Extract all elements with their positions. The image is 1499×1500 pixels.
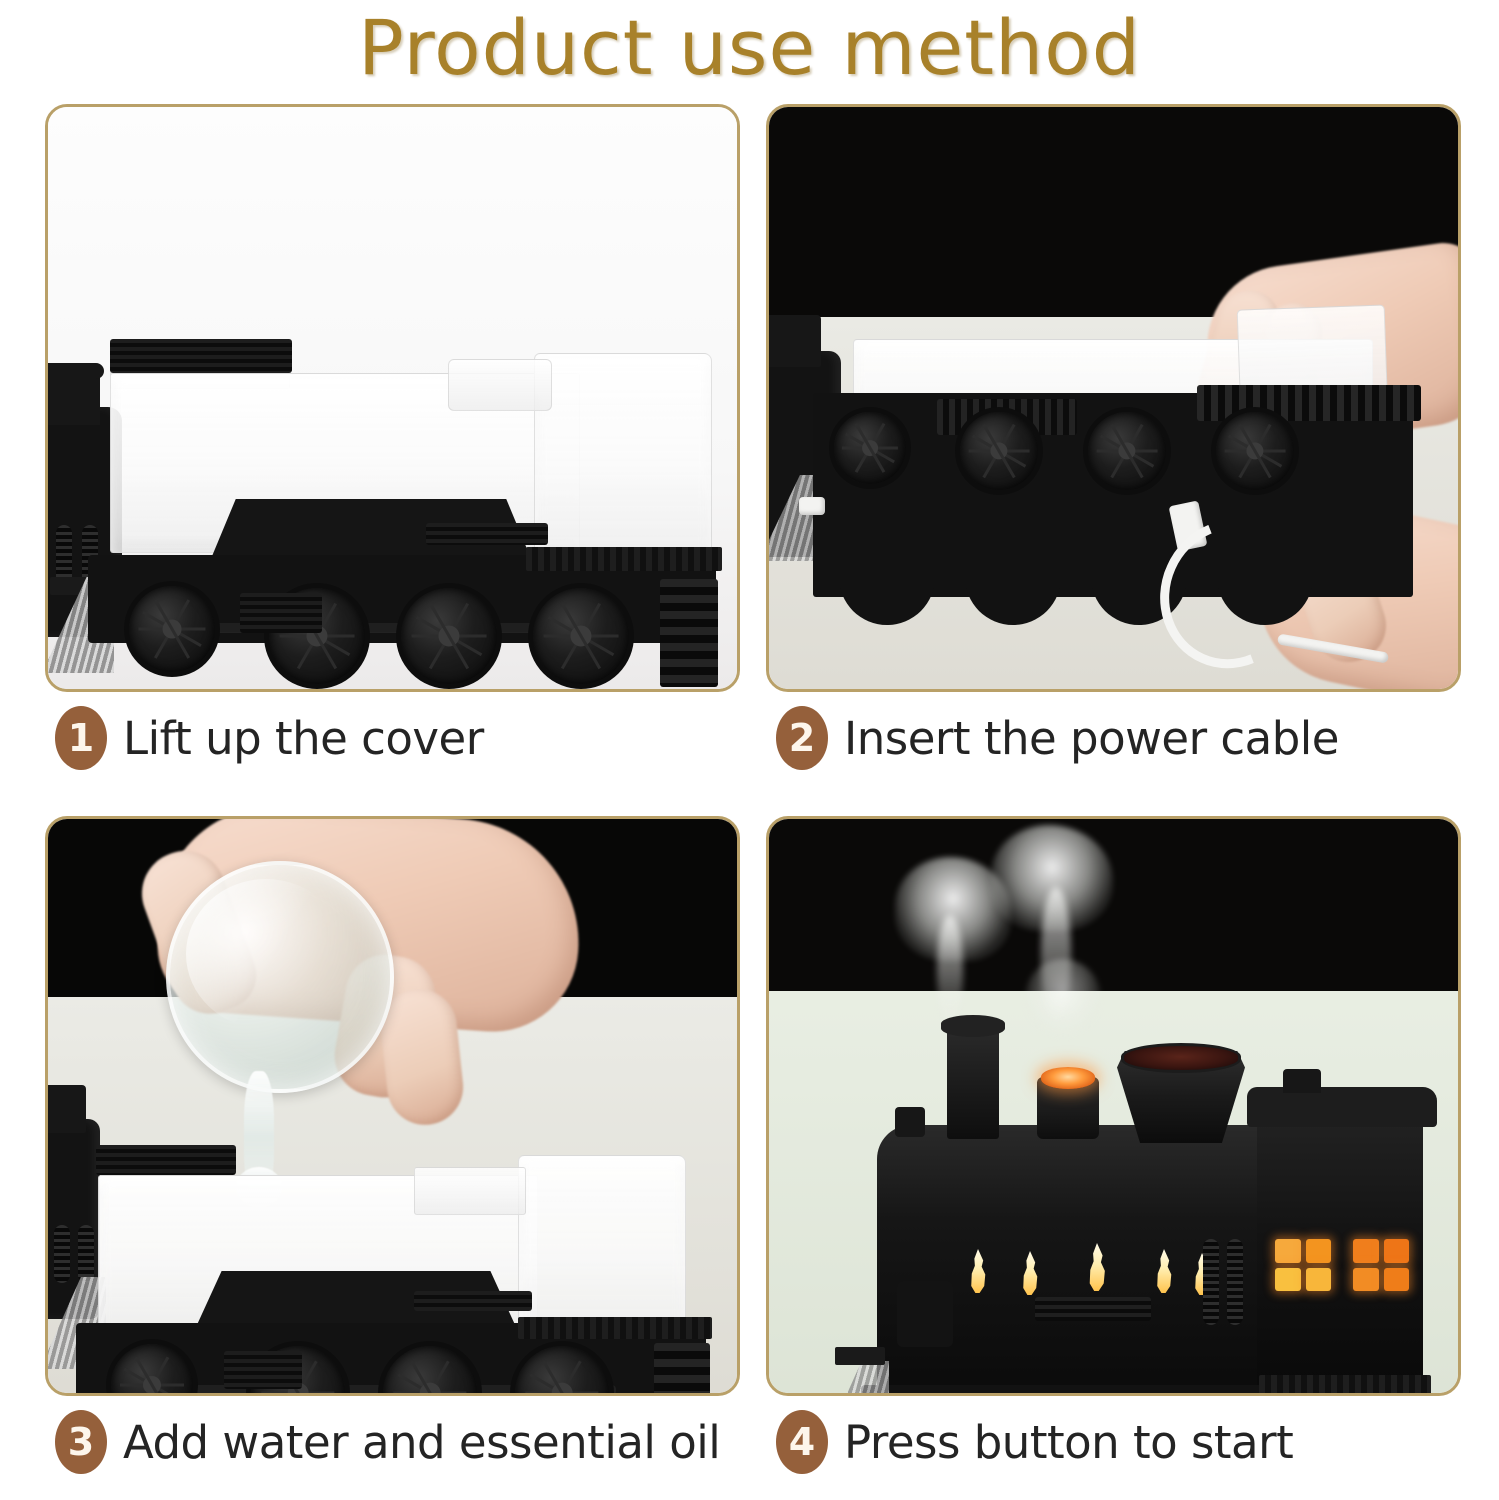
spring-detail-right bbox=[1227, 1239, 1243, 1325]
step-caption-3: 3 Add water and essential oil bbox=[45, 1396, 752, 1488]
tall-stack-cap bbox=[941, 1015, 1005, 1037]
step-caption-1: 1 Lift up the cover bbox=[45, 692, 752, 784]
page-title: Product use method bbox=[0, 2, 1499, 94]
rear-step-deck bbox=[1259, 1375, 1431, 1395]
tank-rear-flap bbox=[414, 1167, 526, 1215]
window-pane bbox=[1384, 1239, 1410, 1263]
step-caption-4: 4 Press button to start bbox=[766, 1396, 1473, 1488]
rear-deck bbox=[518, 1317, 712, 1339]
wheel-4 bbox=[528, 583, 634, 689]
mist-wisp bbox=[1025, 959, 1101, 1037]
spring-coil-right bbox=[78, 1225, 94, 1283]
step-photo-1 bbox=[45, 104, 740, 692]
scene-background-dark bbox=[769, 819, 1458, 991]
wheel-2 bbox=[955, 407, 1043, 495]
step-card-1: 1 Lift up the cover bbox=[45, 104, 752, 784]
glow-stack-opening bbox=[1041, 1067, 1095, 1089]
wheel-1 bbox=[829, 407, 911, 489]
step-photo-2 bbox=[766, 104, 1461, 692]
window-pane bbox=[1353, 1239, 1379, 1263]
spring-coil-left bbox=[54, 1225, 70, 1283]
tall-stack bbox=[947, 1023, 999, 1139]
scene-locomotive-running bbox=[769, 819, 1458, 1393]
main-funnel-opening bbox=[1121, 1043, 1241, 1073]
left-connector bbox=[799, 497, 825, 515]
tank-top-grille bbox=[96, 1145, 236, 1175]
step-photo-4 bbox=[766, 816, 1461, 1396]
step-card-3: 3 Add water and essential oil bbox=[45, 816, 752, 1488]
window-pane bbox=[1353, 1268, 1379, 1292]
spring-detail-left bbox=[1203, 1239, 1219, 1325]
step-label-2: Insert the power cable bbox=[844, 712, 1339, 765]
side-ladder bbox=[414, 1291, 532, 1311]
step-card-2: 2 Insert the power cable bbox=[766, 104, 1473, 784]
scene-insert-power-cable bbox=[769, 107, 1458, 689]
water-tank-rear-box bbox=[534, 353, 712, 561]
step-number-badge-3: 3 bbox=[55, 1410, 107, 1474]
tank-rear-flap bbox=[448, 359, 552, 411]
window-pane bbox=[1275, 1268, 1301, 1292]
tank-top-grille bbox=[110, 339, 292, 373]
wheel-3 bbox=[396, 583, 502, 689]
side-ladder bbox=[426, 523, 548, 545]
cab-window-left bbox=[1275, 1239, 1331, 1291]
wheel-4 bbox=[1211, 407, 1299, 495]
window-pane bbox=[1384, 1268, 1410, 1292]
front-funnel-rim bbox=[45, 363, 104, 379]
step-label-1: Lift up the cover bbox=[123, 712, 484, 765]
step-label-4: Press button to start bbox=[844, 1416, 1293, 1469]
valve-gear-box bbox=[240, 593, 322, 633]
step-label-3: Add water and essential oil bbox=[123, 1416, 720, 1469]
front-funnel bbox=[766, 315, 821, 367]
scene-add-water-and-oil bbox=[48, 819, 737, 1393]
cab-window-right bbox=[1353, 1239, 1409, 1291]
step-caption-2: 2 Insert the power cable bbox=[766, 692, 1473, 784]
mist-plume-right bbox=[991, 825, 1113, 931]
cup-highlight bbox=[186, 879, 346, 1029]
step-photo-3 bbox=[45, 816, 740, 1396]
step-number-badge-2: 2 bbox=[776, 706, 828, 770]
front-buffer bbox=[835, 1347, 885, 1365]
cab-roof bbox=[1247, 1087, 1437, 1127]
rear-step-grille bbox=[654, 1343, 710, 1396]
step-card-4: 4 Press button to start bbox=[766, 816, 1473, 1488]
rear-step-grille bbox=[660, 579, 718, 687]
window-pane bbox=[1275, 1239, 1301, 1263]
whistle bbox=[895, 1107, 925, 1137]
cab-roof-vent bbox=[1283, 1069, 1321, 1093]
window-pane bbox=[1306, 1239, 1332, 1263]
step-number-badge-1: 1 bbox=[55, 706, 107, 770]
front-funnel bbox=[45, 1085, 86, 1133]
window-pane bbox=[1306, 1268, 1332, 1292]
wheel-1 bbox=[124, 581, 220, 677]
rear-deck bbox=[526, 547, 722, 571]
step-number-badge-4: 4 bbox=[776, 1410, 828, 1474]
scene-train-cover-lifted bbox=[48, 107, 737, 689]
valve-gear-box bbox=[224, 1351, 302, 1389]
side-hatch bbox=[897, 1281, 953, 1347]
infographic-page: Product use method bbox=[0, 0, 1499, 1500]
steps-grid: 1 Lift up the cover bbox=[0, 104, 1499, 1500]
boiler-ladder bbox=[1035, 1297, 1151, 1321]
wheel-3 bbox=[1083, 407, 1171, 495]
